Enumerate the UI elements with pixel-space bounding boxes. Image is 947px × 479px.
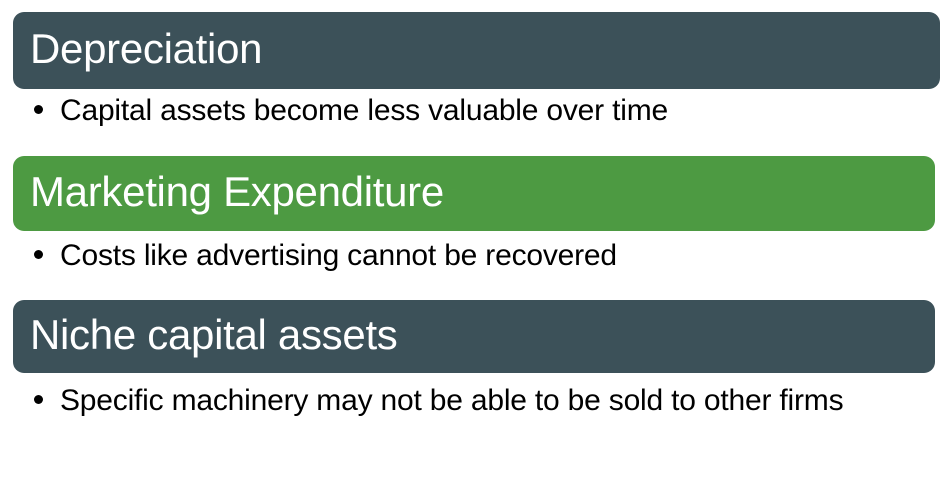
section-header-bar-depreciation: Depreciation [13, 12, 940, 89]
section-heading-text: Depreciation [13, 28, 262, 70]
section-header-bar-marketing-expenditure: Marketing Expenditure [13, 156, 935, 231]
bullet-item-text: Specific machinery may not be able to be… [60, 382, 843, 420]
slide-canvas: Depreciation Capital assets become less … [0, 0, 947, 479]
section-heading-text: Marketing Expenditure [13, 171, 444, 213]
section-header-bar-niche-capital-assets: Niche capital assets [13, 300, 935, 373]
bullet-list-item: Costs like advertising cannot be recover… [34, 237, 914, 275]
bullet-list-item: Specific machinery may not be able to be… [34, 382, 844, 420]
bullet-dot-icon [34, 250, 43, 259]
bullet-item-text: Costs like advertising cannot be recover… [60, 237, 617, 275]
bullet-dot-icon [34, 105, 43, 114]
bullet-list-item: Capital assets become less valuable over… [34, 92, 914, 130]
bullet-item-text: Capital assets become less valuable over… [60, 92, 668, 130]
section-heading-text: Niche capital assets [13, 314, 398, 356]
bullet-dot-icon [34, 395, 43, 404]
